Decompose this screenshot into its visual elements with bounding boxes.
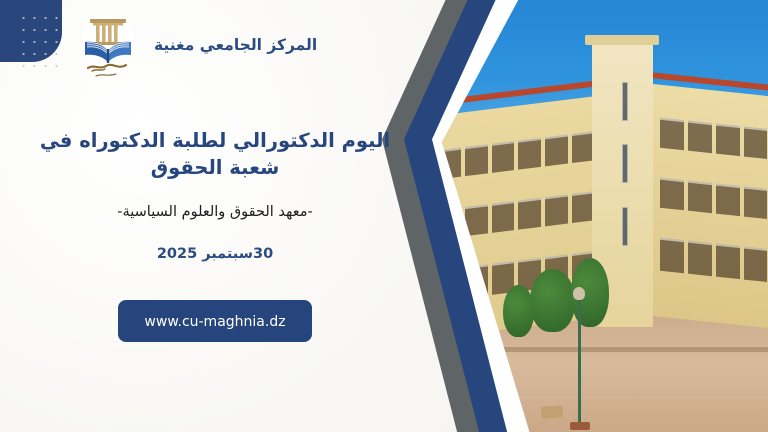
- photo-window: [519, 138, 542, 170]
- photo-window: [660, 117, 684, 150]
- photo-window: [743, 126, 767, 159]
- event-title: اليوم الدكتورالي لطلبة الدكتوراه في شعبة…: [15, 128, 415, 182]
- top-left-dot-pattern: [18, 12, 64, 68]
- photo-window-row: [660, 178, 768, 222]
- website-url-button[interactable]: www.cu-maghnia.dz: [118, 300, 312, 342]
- photo-window: [466, 144, 489, 176]
- event-organizer: -معهد الحقوق والعلوم السياسية-: [15, 204, 415, 220]
- photo-tower-window: [622, 144, 628, 183]
- photo-window: [492, 201, 515, 233]
- university-name: المركز الجامعي مغنية: [154, 36, 317, 54]
- event-date: 30سبتمبر 2025: [15, 246, 415, 262]
- photo-tower-window: [622, 82, 628, 121]
- photo-lamp-head: [573, 287, 585, 300]
- photo-window: [492, 141, 515, 173]
- photo-building-right: [653, 84, 768, 332]
- photo-window: [660, 178, 684, 211]
- photo-window: [716, 184, 740, 217]
- photo-window: [545, 135, 568, 167]
- photo-lamp-post: [578, 300, 581, 427]
- photo-window: [716, 244, 740, 279]
- photo-window: [743, 247, 767, 282]
- photo-window: [716, 123, 740, 156]
- photo-window: [519, 198, 542, 230]
- photo-window: [466, 204, 489, 236]
- photo-lamp-base: [570, 422, 590, 430]
- poster-content: اليوم الدكتورالي لطلبة الدكتوراه في شعبة…: [0, 128, 430, 342]
- photo-window: [688, 241, 712, 276]
- photo-tree: [530, 269, 574, 332]
- photo-tree: [503, 285, 534, 338]
- university-crest-icon: [76, 10, 140, 80]
- photo-window: [743, 186, 767, 219]
- photo-window: [688, 181, 712, 214]
- photo-window-row: [442, 131, 595, 179]
- photo-planter: [540, 405, 563, 419]
- photo-window: [688, 120, 712, 153]
- poster-canvas: المركز الجامعي مغنية اليوم الدكتورالي لط…: [0, 0, 768, 432]
- photo-tower-window: [622, 207, 628, 246]
- photo-window: [545, 194, 568, 226]
- poster-header: المركز الجامعي مغنية: [76, 10, 317, 80]
- photo-window: [660, 238, 684, 273]
- photo-window-row: [660, 238, 768, 285]
- photo-window-row: [660, 117, 768, 161]
